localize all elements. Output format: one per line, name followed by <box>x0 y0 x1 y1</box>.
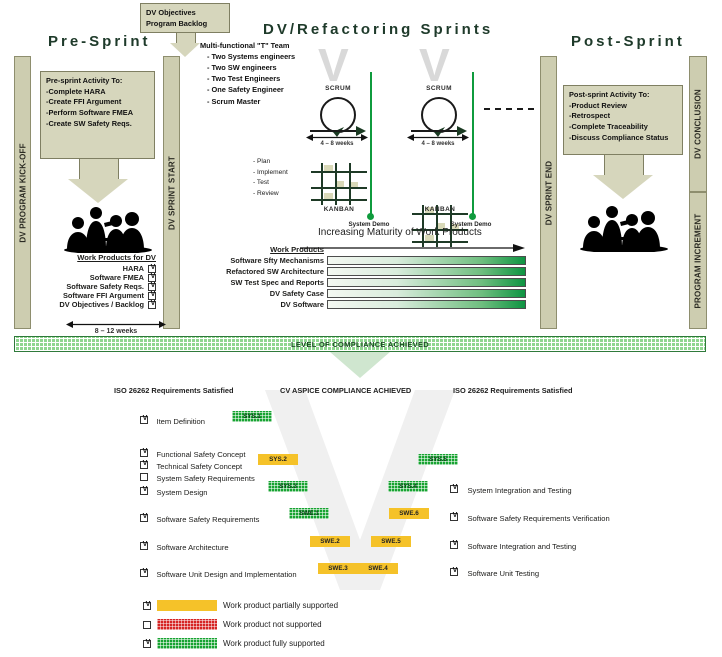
bar-sprint-start-label: DV SPRINT START <box>167 156 176 230</box>
dv-objectives-line1: DV Objectives <box>146 8 224 19</box>
wp-item-row: Software FFI Argument <box>38 291 156 300</box>
legend-row: Work product not supported <box>143 619 322 630</box>
maturity-bar-3 <box>327 289 526 298</box>
kanban-board-1 <box>311 163 367 205</box>
multifunctional-team-list: Multi-functional "T" Team - Two Systems … <box>200 40 295 107</box>
pre-sprint-item-3: -Create SW Safety Reqs. <box>46 119 149 130</box>
right-requirement-row: System Integration and Testing <box>450 480 572 498</box>
maturity-bar-4 <box>327 300 526 309</box>
level-of-compliance-bar: LEVEL OF COMPLIANCE ACHIEVED <box>14 336 706 352</box>
left-req-checkbox-6[interactable] <box>140 542 148 550</box>
team-item-2: - Two Test Engineers <box>207 73 295 84</box>
aspice-badge-swe-5[interactable]: SWE.5 <box>371 536 411 547</box>
post-sprint-item-0: -Product Review <box>569 101 677 112</box>
system-demo-line-1 <box>370 72 372 217</box>
ceremony-2: - Test <box>253 178 288 189</box>
legend-checkbox-1[interactable] <box>143 621 151 629</box>
iso-caption-right: ISO 26262 Requirements Satisfied <box>453 386 573 395</box>
team-item-0: - Two Systems engineers <box>207 51 295 62</box>
header-post-sprint: Post-Sprint <box>571 33 685 50</box>
iso-caption-left: ISO 26262 Requirements Satisfied <box>114 386 234 395</box>
sprint-ceremonies-list: - Plan - Implement - Test - Review <box>253 157 288 199</box>
v-watermark-sprint-1-icon: V <box>318 45 349 85</box>
left-req-checkbox-5[interactable] <box>140 514 148 522</box>
scrum-label-1: SCRUM <box>314 85 362 92</box>
kanban-label-2: KANBAN <box>412 206 468 213</box>
left-requirement-row: Item Definition <box>140 411 205 429</box>
maturity-row: DV Safety Case <box>186 289 526 298</box>
left-req-label-4: System Design <box>156 488 207 497</box>
maturity-row-label-4: DV Software <box>186 300 324 309</box>
legend-checkbox-0[interactable] <box>143 602 151 610</box>
post-sprint-item-1: -Retrospect <box>569 111 677 122</box>
left-req-label-7: Software Unit Design and Implementation <box>156 570 296 579</box>
pre-sprint-item-2: -Perform Software FMEA <box>46 108 149 119</box>
bar-conclusion-label: DV CONCLUSION <box>694 89 703 159</box>
left-req-label-0: Item Definition <box>156 417 205 426</box>
level-of-compliance-label: LEVEL OF COMPLIANCE ACHIEVED <box>15 337 705 352</box>
system-demo-dot-1 <box>367 213 374 220</box>
wp-item-2: Software Safety Reqs. <box>66 282 144 291</box>
sprint-2-duration-label: 4 – 8 weeks <box>407 141 469 147</box>
aspice-badge-swe-3[interactable]: SWE.3 <box>318 563 358 574</box>
aspice-badge-sys-5[interactable]: SYS.5 <box>418 454 458 465</box>
maturity-row-label-3: DV Safety Case <box>186 289 324 298</box>
aspice-badge-sys-1[interactable]: SYS.1 <box>232 411 272 422</box>
wp-item-row: DV Objectives / Backlog <box>38 300 156 309</box>
maturity-row-label-2: SW Test Spec and Reports <box>186 278 324 287</box>
system-demo-dot-2 <box>469 213 476 220</box>
wp-item-4: DV Objectives / Backlog <box>59 300 144 309</box>
bar-dv-sprint-end: DV SPRINT END <box>540 56 557 329</box>
post-sprint-activity-title: Post-sprint Activity To: <box>569 90 677 101</box>
left-requirement-row: Software Architecture <box>140 537 229 555</box>
maturity-bar-0 <box>327 256 526 265</box>
maturity-row-label-0: Software Sfty Mechanisms <box>186 256 324 265</box>
left-requirement-row: System Design <box>140 482 208 500</box>
post-sprint-activity-box: Post-sprint Activity To: -Product Review… <box>563 85 683 155</box>
pre-sprint-activity-box: Pre-sprint Activity To: -Complete HARA -… <box>40 71 155 159</box>
header-center: DV/Refactoring Sprints <box>263 21 493 38</box>
bar-dv-sprint-start: DV SPRINT START <box>163 56 180 329</box>
ceremony-3: - Review <box>253 189 288 200</box>
wp-item-1: Software FMEA <box>90 273 144 282</box>
post-sprint-arrowhead-icon <box>593 175 653 199</box>
team-item-1: - Two SW engineers <box>207 62 295 73</box>
dv-objectives-arrow-icon <box>176 33 196 43</box>
team-title: Multi-functional "T" Team <box>200 40 295 51</box>
wp-item-row: Software FMEA <box>38 273 156 282</box>
left-req-checkbox-3[interactable] <box>140 473 148 481</box>
legend-checkbox-2[interactable] <box>143 640 151 648</box>
maturity-bar-1 <box>327 267 526 276</box>
wp-item-row: HARA <box>38 264 156 273</box>
legend-label-0: Work product partially supported <box>223 601 338 610</box>
wp-checkbox-4[interactable] <box>148 301 156 309</box>
maturity-caption: Increasing Maturity of Work Products <box>318 227 482 238</box>
maturity-row: Refactored SW Architecture <box>186 267 526 276</box>
team-item-3: - One Safety Engineer <box>207 84 295 95</box>
bar-kickoff-label: DV PROGRAM KICK-OFF <box>18 143 27 242</box>
bar-increment-label: PROGRAM INCREMENT <box>694 213 703 308</box>
legend-swatch-0 <box>157 600 217 611</box>
kanban-label-1: KANBAN <box>311 206 367 213</box>
bar-dv-program-kickoff: DV PROGRAM KICK-OFF <box>14 56 31 329</box>
aspice-badge-swe-4[interactable]: SWE.4 <box>358 563 398 574</box>
v-watermark-sprint-2-icon: V <box>419 45 450 85</box>
maturity-row-label-1: Refactored SW Architecture <box>186 267 324 276</box>
scrum-label-2: SCRUM <box>415 85 463 92</box>
post-sprint-team-illustration <box>574 204 674 252</box>
aspice-badge-sys-3[interactable]: SYS.3 <box>268 481 308 492</box>
dv-objectives-box: DV Objectives Program Backlog <box>140 3 230 33</box>
aspice-caption-center: CV ASPICE COMPLIANCE ACHIEVED <box>280 386 411 395</box>
maturity-row: Software Sfty Mechanisms <box>186 256 526 265</box>
left-req-label-6: Software Architecture <box>156 543 228 552</box>
right-req-label-0: System Integration and Testing <box>467 486 571 495</box>
right-req-label-3: Software Unit Testing <box>467 569 539 578</box>
system-demo-line-2 <box>472 72 474 217</box>
header-pre-sprint: Pre-Sprint <box>48 33 151 50</box>
post-sprint-item-3: -Discuss Compliance Status <box>569 133 677 144</box>
right-req-checkbox-1[interactable] <box>450 513 458 521</box>
pre-sprint-arrow-stem-icon <box>79 159 119 179</box>
legend-row: Work product partially supported <box>143 600 338 611</box>
sprints-continuation-dashes-icon <box>484 108 534 110</box>
left-req-checkbox-0[interactable] <box>140 416 148 424</box>
bar-dv-conclusion: DV CONCLUSION <box>689 56 707 192</box>
post-sprint-arrow-stem-icon <box>604 155 644 175</box>
dv-objectives-arrowhead-icon <box>170 43 200 57</box>
pre-sprint-activity-title: Pre-sprint Activity To: <box>46 76 149 87</box>
aspice-badge-sys-2[interactable]: SYS.2 <box>258 454 298 465</box>
bar-sprint-end-label: DV SPRINT END <box>544 160 553 224</box>
left-req-checkbox-4[interactable] <box>140 487 148 495</box>
aspice-badge-swe-2[interactable]: SWE.2 <box>310 536 350 547</box>
right-requirement-row: Software Integration and Testing <box>450 536 576 554</box>
legend-row: Work product fully supported <box>143 638 325 649</box>
right-req-checkbox-0[interactable] <box>450 485 458 493</box>
pre-sprint-duration-label: 8 – 12 weeks <box>66 328 166 335</box>
pre-sprint-work-products: Work Products for DV HARA Software FMEA … <box>38 253 156 309</box>
right-requirement-row: Software Safety Requirements Verificatio… <box>450 508 610 526</box>
pre-sprint-team-illustration <box>58 205 158 253</box>
right-req-checkbox-2[interactable] <box>450 541 458 549</box>
right-req-label-2: Software Integration and Testing <box>467 542 576 551</box>
legend-swatch-2 <box>157 638 217 649</box>
legend-swatch-1 <box>157 619 217 630</box>
pre-sprint-item-0: -Complete HARA <box>46 87 149 98</box>
bar-program-increment: PROGRAM INCREMENT <box>689 192 707 329</box>
maturity-row: SW Test Spec and Reports <box>186 278 526 287</box>
team-item-4: - Scrum Master <box>207 96 295 107</box>
post-sprint-item-2: -Complete Traceability <box>569 122 677 133</box>
right-requirement-row: Software Unit Testing <box>450 563 539 581</box>
pre-sprint-arrowhead-icon <box>68 179 128 203</box>
dv-objectives-line2: Program Backlog <box>146 19 224 30</box>
wp-item-0: HARA <box>123 264 144 273</box>
maturity-title: Work Products <box>186 245 324 254</box>
right-req-checkbox-3[interactable] <box>450 568 458 576</box>
legend-label-1: Work product not supported <box>223 620 322 629</box>
legend-label-2: Work product fully supported <box>223 639 325 648</box>
aspice-badge-swe-6[interactable]: SWE.6 <box>389 508 429 519</box>
wp-item-row: Software Safety Reqs. <box>38 282 156 291</box>
left-req-checkbox-7[interactable] <box>140 569 148 577</box>
right-req-label-1: Software Safety Requirements Verificatio… <box>467 514 609 523</box>
left-requirement-row: Software Safety Requirements <box>140 509 259 527</box>
pre-sprint-item-1: -Create FFI Argument <box>46 97 149 108</box>
aspice-badge-swe-1[interactable]: SWE.1 <box>289 508 329 519</box>
maturity-row: DV Software <box>186 300 526 309</box>
ceremony-0: - Plan <box>253 157 288 168</box>
ceremony-1: - Implement <box>253 168 288 179</box>
maturity-table: Work Products Software Sfty Mechanisms R… <box>186 245 526 309</box>
sprint-1-duration-label: 4 – 8 weeks <box>306 141 368 147</box>
left-requirement-row: Software Unit Design and Implementation <box>140 564 297 582</box>
wp-item-3: Software FFI Argument <box>63 291 144 300</box>
pre-sprint-wp-title: Work Products for DV <box>38 253 156 262</box>
compliance-arrowhead-icon <box>330 352 390 378</box>
maturity-bar-2 <box>327 278 526 287</box>
left-req-label-5: Software Safety Requirements <box>156 515 259 524</box>
aspice-badge-sys-4[interactable]: SYS.4 <box>388 481 428 492</box>
